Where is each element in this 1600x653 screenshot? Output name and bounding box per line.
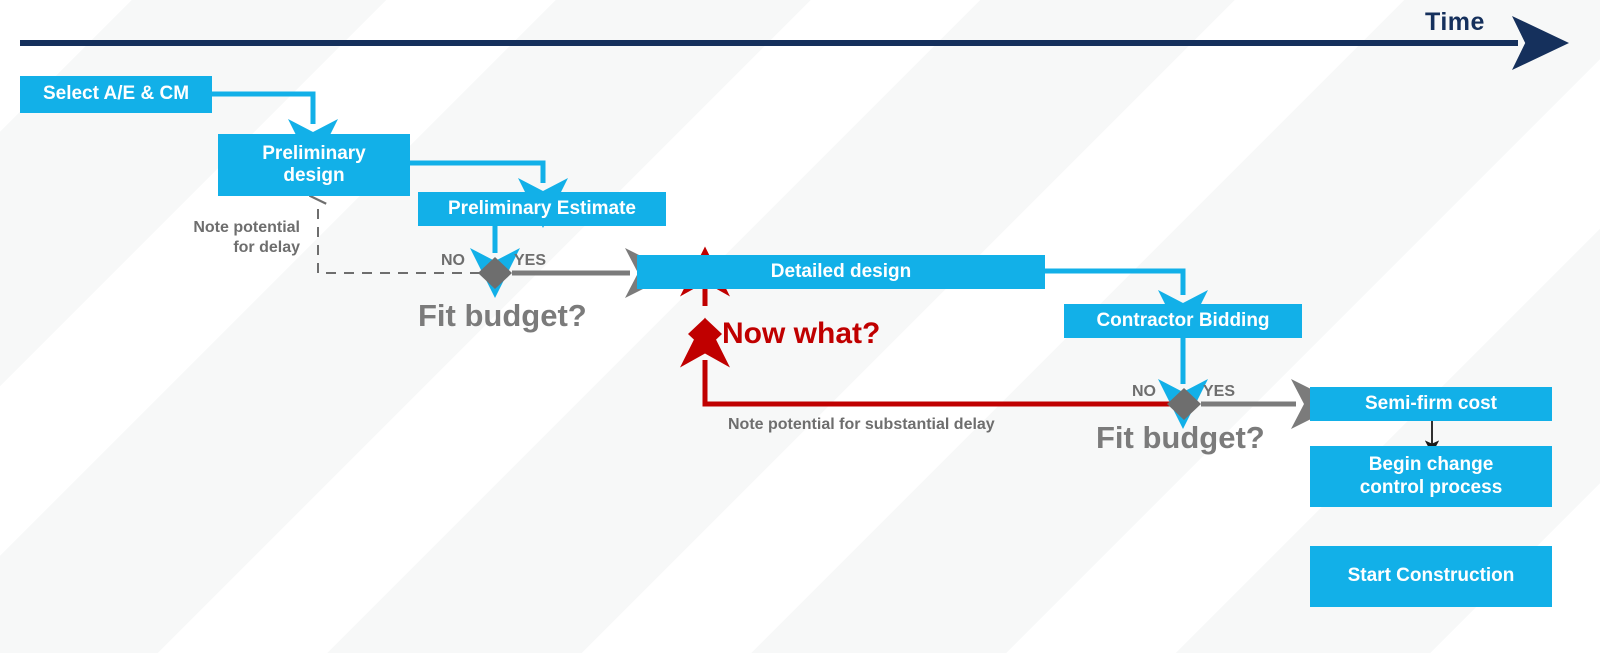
now-what-label: Now what?	[722, 317, 880, 351]
decision-diamond-1	[478, 257, 512, 289]
node-preliminary-estimate[interactable]: Preliminary Estimate	[418, 192, 666, 226]
node-preliminary-design-label-1: Preliminary	[262, 143, 366, 165]
node-contractor-bidding-label: Contractor Bidding	[1096, 310, 1269, 332]
delay-note-line-2: for delay	[233, 239, 300, 256]
node-contractor-bidding[interactable]: Contractor Bidding	[1064, 304, 1302, 338]
flowchart-canvas: Select A/E & CM Preliminary design Preli…	[0, 0, 1600, 653]
node-select-ae-cm[interactable]: Select A/E & CM	[20, 76, 212, 113]
delay-note-line-1: Note potential	[193, 219, 300, 236]
decision-diamond-2	[1167, 388, 1201, 420]
node-semi-firm-cost[interactable]: Semi-firm cost	[1310, 387, 1552, 421]
node-begin-change-control-label-1: Begin change	[1369, 454, 1494, 476]
connector-prelim-design-to-estimate	[410, 163, 543, 183]
node-semi-firm-cost-label: Semi-firm cost	[1365, 393, 1497, 415]
decision1-question: Fit budget?	[418, 298, 587, 334]
decision2-yes-label: YES	[1203, 383, 1235, 401]
substantial-delay-note: Note potential for substantial delay	[728, 415, 995, 435]
decision2-no-label: NO	[1132, 383, 1156, 401]
node-begin-change-control[interactable]: Begin change control process	[1310, 446, 1552, 507]
decision1-yes-label: YES	[514, 252, 546, 270]
connector-detailed-to-bidding	[1045, 271, 1183, 295]
time-axis-label: Time	[1425, 8, 1485, 37]
node-start-construction-label: Start Construction	[1348, 565, 1515, 587]
decision1-no-label: NO	[441, 252, 465, 270]
connector-select-to-prelim-design	[212, 94, 313, 124]
node-preliminary-estimate-label: Preliminary Estimate	[448, 198, 636, 220]
decision2-question: Fit budget?	[1096, 420, 1265, 456]
node-start-construction[interactable]: Start Construction	[1310, 546, 1552, 607]
node-detailed-design[interactable]: Detailed design	[637, 255, 1045, 289]
node-detailed-design-label: Detailed design	[771, 261, 911, 283]
delay-note: Note potential for delay	[155, 198, 300, 278]
node-preliminary-design[interactable]: Preliminary design	[218, 134, 410, 196]
node-begin-change-control-label-2: control process	[1360, 477, 1503, 499]
node-preliminary-design-label-2: design	[283, 165, 344, 187]
node-select-ae-cm-label: Select A/E & CM	[43, 83, 189, 105]
now-what-diamond	[688, 318, 722, 350]
